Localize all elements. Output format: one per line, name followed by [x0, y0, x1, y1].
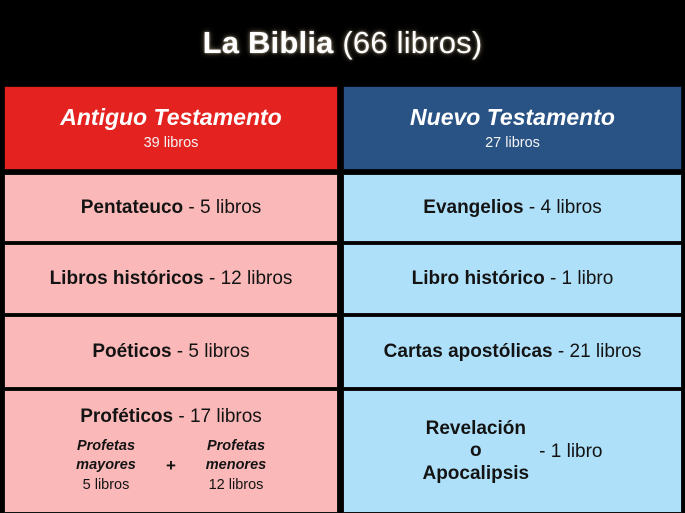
table-row: Libros históricos - 12 libros	[4, 244, 338, 314]
table-row: Evangelios - 4 libros	[343, 174, 682, 242]
title-subtitle: (66 libros)	[334, 25, 483, 60]
table-row: Pentateuco - 5 libros	[4, 174, 338, 242]
table-row: Poéticos - 5 libros	[4, 316, 338, 388]
row-count: - 1 libro	[545, 268, 614, 289]
minor-prophets-count: 12 libros	[209, 476, 264, 495]
row-label: Libro histórico	[412, 268, 545, 289]
prophetic-breakdown: Profetas mayores 5 libros + Profetas men…	[54, 437, 288, 496]
old-testament-rows: Pentateuco - 5 libros Libros históricos …	[4, 170, 338, 513]
row-text: Libro histórico - 1 libro	[412, 267, 614, 291]
minor-prophets-label-line1: Profetas	[207, 437, 265, 456]
major-prophets-label-line1: Profetas	[77, 437, 135, 456]
row-label: Poéticos	[92, 341, 171, 362]
revelation-line-3: Apocalipsis	[422, 463, 529, 485]
old-testament-book-count: 39 libros	[144, 135, 199, 151]
revelation-name: Revelación o Apocalipsis	[422, 418, 529, 485]
row-text: Cartas apostólicas - 21 libros	[384, 340, 642, 364]
page-title: La Biblia (66 libros)	[203, 25, 483, 61]
row-count: - 4 libros	[524, 197, 602, 218]
new-testament-header: Nuevo Testamento 27 libros	[343, 86, 682, 170]
row-text: Pentateuco - 5 libros	[81, 196, 262, 220]
row-label: Cartas apostólicas	[384, 341, 553, 362]
row-label: Proféticos	[80, 406, 173, 427]
testament-columns: Antiguo Testamento 39 libros Pentateuco …	[0, 86, 685, 513]
major-prophets-label-line2: mayores	[76, 456, 136, 475]
row-label: Pentateuco	[81, 197, 183, 218]
row-text: Proféticos - 17 libros	[80, 406, 262, 428]
revelation-line-2: o	[470, 440, 482, 462]
minor-prophets: Profetas menores 12 libros	[184, 437, 288, 496]
row-count: - 5 libros	[183, 197, 261, 218]
old-testament-header: Antiguo Testamento 39 libros	[4, 86, 338, 170]
table-row-revelation: Revelación o Apocalipsis - 1 libro	[343, 390, 682, 513]
plus-sign: +	[158, 456, 184, 476]
revelation-group: Revelación o Apocalipsis - 1 libro	[344, 418, 681, 485]
old-testament-title: Antiguo Testamento	[60, 105, 281, 129]
bible-overview-infographic: La Biblia (66 libros) Antiguo Testamento…	[0, 0, 685, 513]
minor-prophets-label-line2: menores	[206, 456, 266, 475]
prophetic-group: Proféticos - 17 libros Profetas mayores …	[5, 406, 337, 498]
new-testament-rows: Evangelios - 4 libros Libro histórico - …	[343, 170, 682, 513]
revelation-line-1: Revelación	[426, 418, 526, 440]
table-row-prophetic: Proféticos - 17 libros Profetas mayores …	[4, 390, 338, 513]
row-text: Evangelios - 4 libros	[423, 196, 601, 220]
row-count: - 21 libros	[553, 341, 642, 362]
table-row: Cartas apostólicas - 21 libros	[343, 316, 682, 388]
major-prophets: Profetas mayores 5 libros	[54, 437, 158, 496]
table-row: Libro histórico - 1 libro	[343, 244, 682, 314]
row-text: Libros históricos - 12 libros	[50, 267, 293, 291]
row-label: Libros históricos	[50, 268, 204, 289]
row-count: - 5 libros	[172, 341, 250, 362]
new-testament-title: Nuevo Testamento	[410, 105, 615, 129]
new-testament-column: Nuevo Testamento 27 libros Evangelios - …	[340, 86, 685, 513]
new-testament-book-count: 27 libros	[485, 135, 540, 151]
row-label: Evangelios	[423, 197, 523, 218]
old-testament-column: Antiguo Testamento 39 libros Pentateuco …	[0, 86, 340, 513]
row-text: Poéticos - 5 libros	[92, 340, 249, 364]
title-main: La Biblia	[203, 25, 334, 60]
major-prophets-count: 5 libros	[83, 476, 130, 495]
title-band: La Biblia (66 libros)	[0, 0, 685, 86]
revelation-count: - 1 libro	[539, 441, 602, 463]
row-count: - 12 libros	[204, 268, 293, 289]
row-count: - 17 libros	[173, 406, 262, 427]
